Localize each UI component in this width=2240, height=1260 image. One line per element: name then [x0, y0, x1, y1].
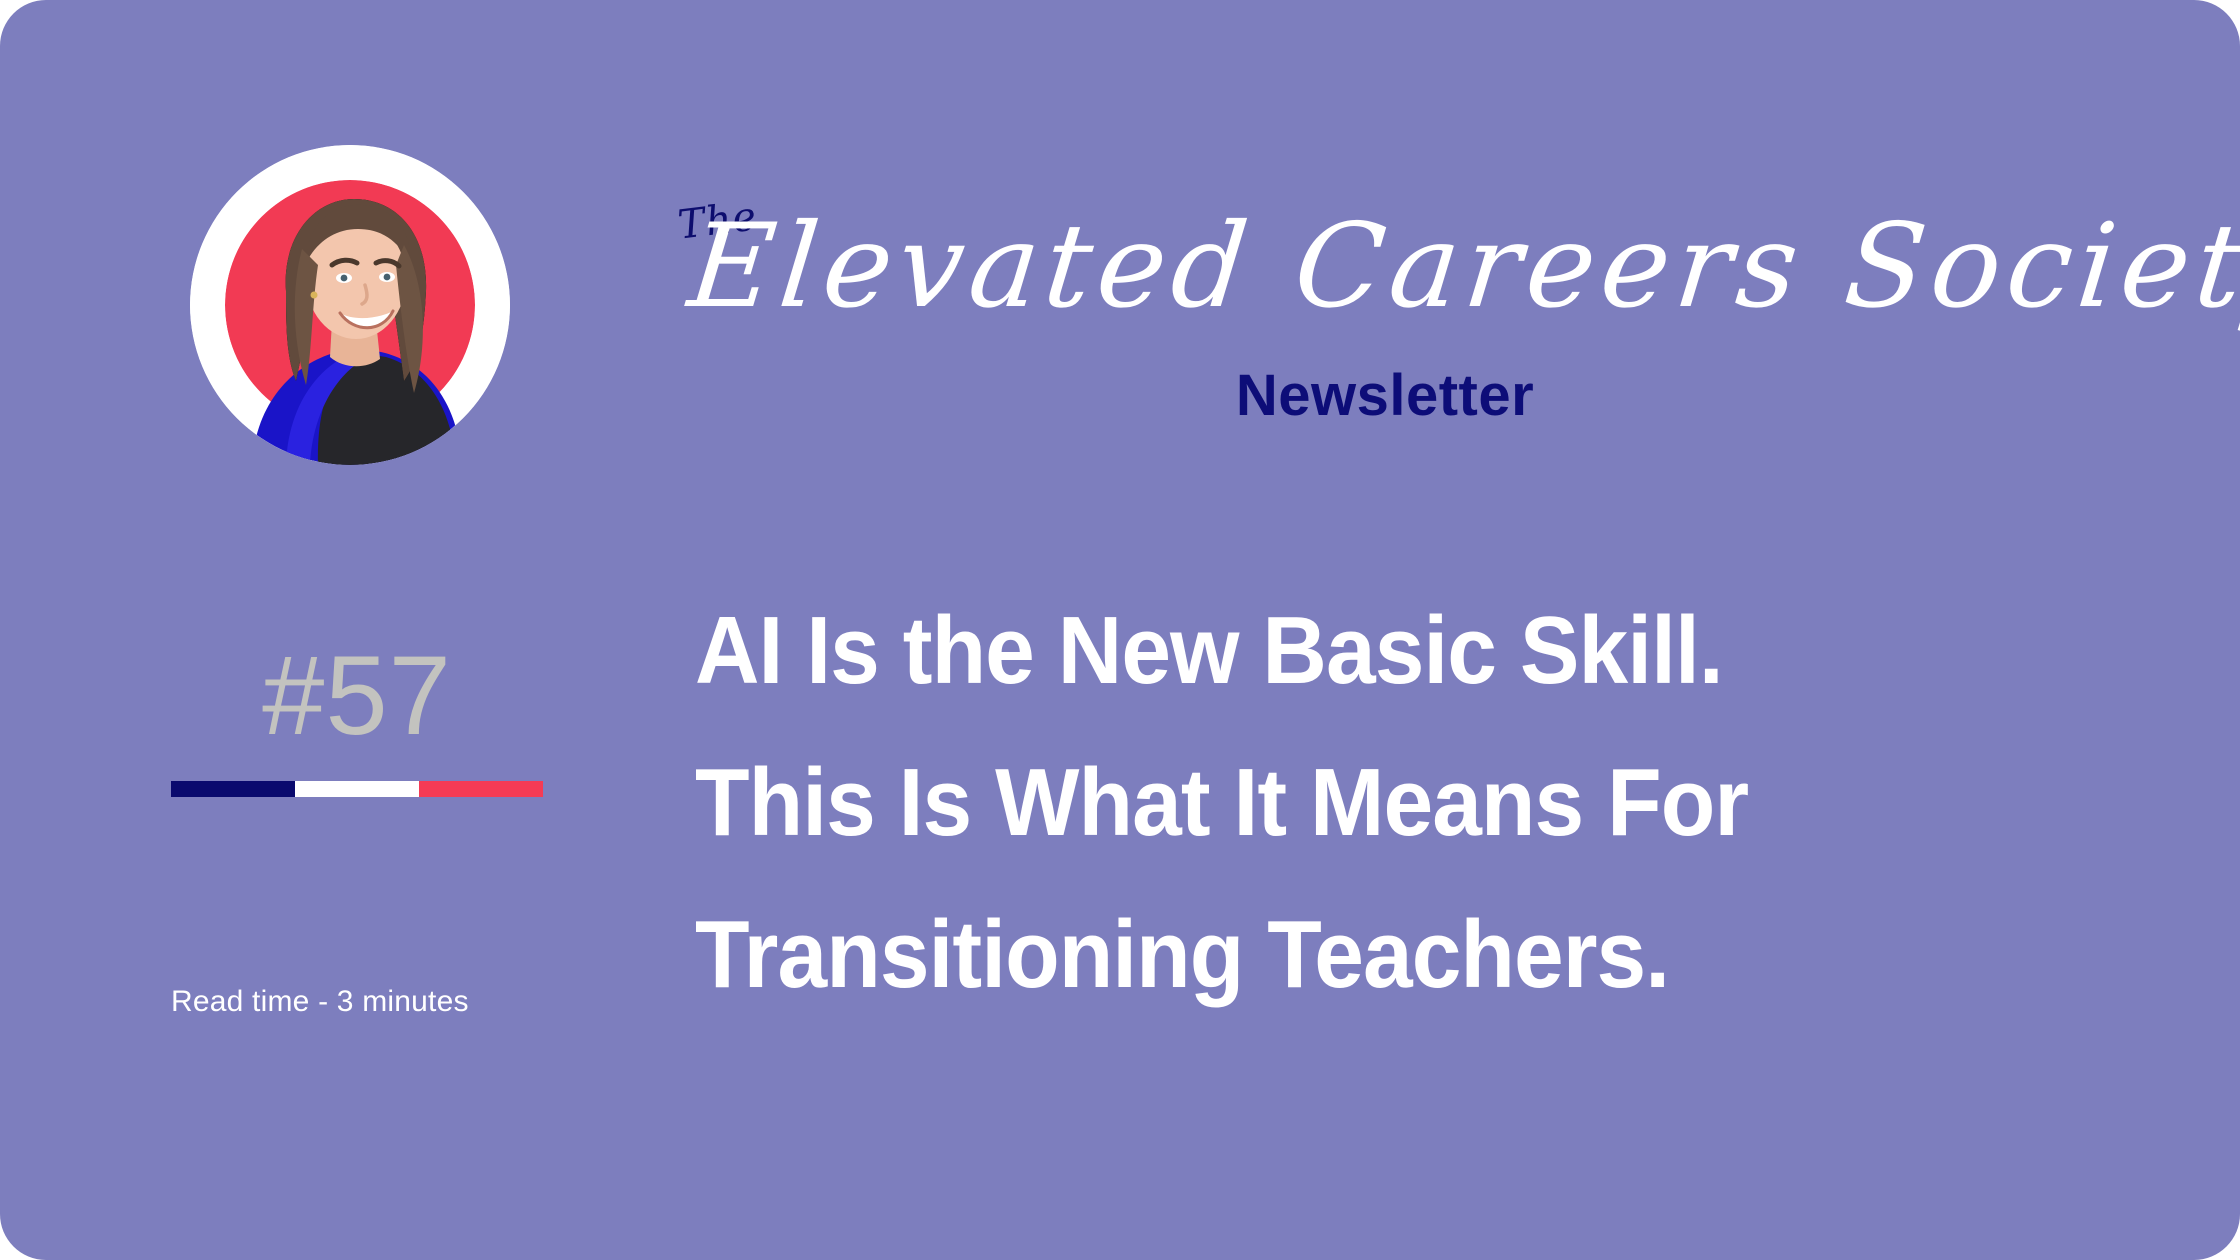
headline-line-1: AI Is the New Basic Skill.: [695, 575, 2034, 727]
brand-script-name: Elevated Careers Society: [680, 174, 2090, 360]
accent-bar-segment-white: [295, 781, 419, 797]
brand-subtitle: Newsletter: [690, 362, 2080, 429]
left-meta-column: #57 Read time - 3 minutes: [0, 0, 660, 1260]
headline: AI Is the New Basic Skill. This Is What …: [695, 575, 2135, 1031]
avatar-portrait-icon: [190, 145, 510, 465]
issue-number: #57: [171, 640, 543, 752]
read-time-label: Read time - 3 minutes: [171, 985, 469, 1019]
headline-line-3: Transitioning Teachers.: [695, 879, 2034, 1031]
headline-line-2: This Is What It Means For: [695, 727, 2034, 879]
brand-logo: The Elevated Careers Society Newsletter: [660, 180, 2080, 440]
avatar: [190, 145, 510, 465]
accent-bar-segment-navy: [171, 781, 295, 797]
newsletter-header-card: #57 Read time - 3 minutes The Elevated C…: [0, 0, 2240, 1260]
accent-bar-segment-red: [419, 781, 543, 797]
accent-bar: [171, 781, 543, 797]
